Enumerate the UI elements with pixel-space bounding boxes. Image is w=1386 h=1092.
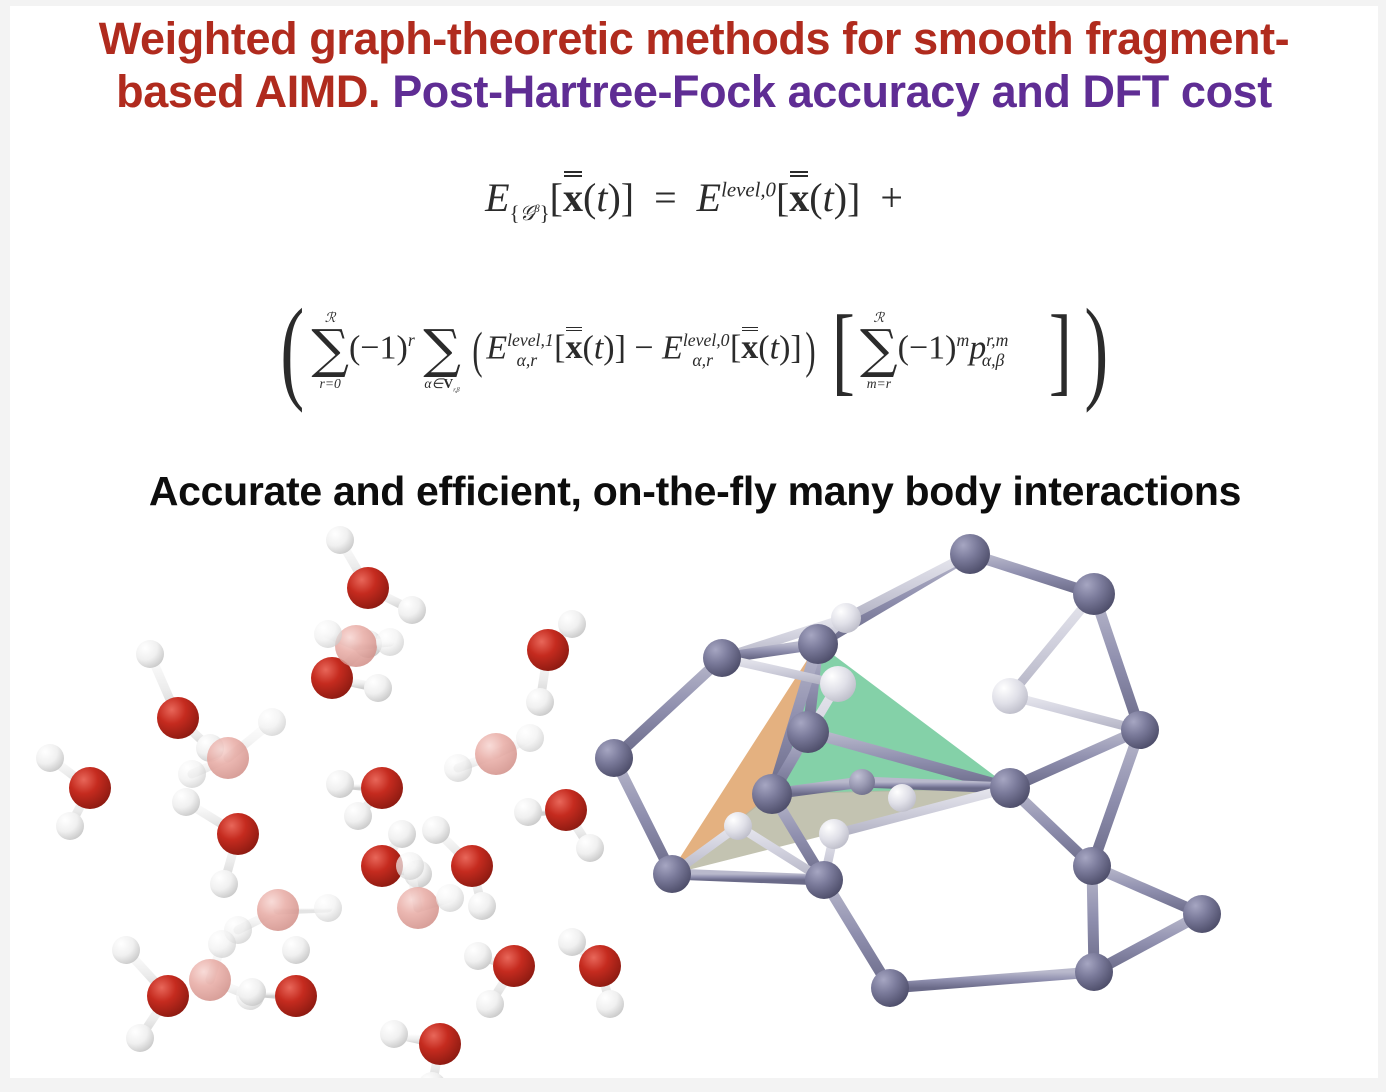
hydrogen-atom (314, 894, 342, 922)
hydrogen-atom (36, 744, 64, 772)
graph-edge (614, 758, 672, 874)
outer-left-paren: ( (280, 284, 304, 417)
water-molecule (558, 928, 624, 1018)
graph-edge (862, 782, 1010, 788)
figure-svg (10, 526, 1378, 1078)
graph-node (1183, 895, 1221, 933)
title-line-2: based AIMD. Post-Hartree-Fock accuracy a… (14, 65, 1374, 118)
hydrogen-atom (558, 610, 586, 638)
hydrogen-atom (558, 928, 586, 956)
graph-node (990, 768, 1030, 808)
fragment-graph-network (595, 534, 1221, 1007)
hydrogen-atom (422, 816, 450, 844)
graph-edge (1010, 696, 1140, 730)
water-molecule (36, 744, 111, 840)
tagline: Accurate and efficient, on-the-fly many … (20, 468, 1370, 515)
oxygen-atom (217, 813, 259, 855)
hydrogen-atom (210, 870, 238, 898)
bracket-left: [ (832, 294, 855, 407)
oxygen-atom (493, 945, 535, 987)
graph-node (805, 861, 843, 899)
graph-edge (672, 874, 824, 880)
sum-over-m: ℛ∑m=r (860, 311, 898, 391)
hydrogen-atom (516, 724, 544, 752)
water-molecule (326, 767, 403, 830)
oxygen-atom (545, 789, 587, 831)
graph-node (1073, 847, 1111, 885)
poster-root: Weighted graph-theoretic methods for smo… (0, 0, 1386, 1092)
oxygen-atom (361, 767, 403, 809)
graph-node (1075, 953, 1113, 991)
hydrogen-atom (376, 628, 404, 656)
title-line-1: Weighted graph-theoretic methods for smo… (14, 12, 1374, 65)
water-molecule (326, 526, 426, 624)
graph-node (950, 534, 990, 574)
equation-line-1: E{𝒢β}[x(t)] = Elevel,0[x(t)] + (10, 174, 1378, 221)
title-line-2-red: based AIMD. (116, 66, 392, 117)
graph-node (752, 774, 792, 814)
water-molecule (224, 889, 342, 944)
graph-edge (1094, 594, 1140, 730)
oxygen-atom (419, 1023, 461, 1065)
hydrogen-atom (208, 930, 236, 958)
hydrogen-atom (418, 1072, 446, 1078)
sum-over-r: ℛ∑r=0 (311, 311, 349, 391)
oxygen-atom (207, 737, 249, 779)
graph-node (820, 666, 856, 702)
hydrogen-atom (136, 640, 164, 668)
graph-edge (890, 972, 1094, 988)
hydrogen-atom (596, 990, 624, 1018)
hydrogen-atom (398, 596, 426, 624)
oxygen-atom (347, 567, 389, 609)
graph-node (849, 769, 875, 795)
hydrogen-atom (172, 788, 200, 816)
outer-right-paren: ) (1084, 284, 1108, 417)
hydrogen-atom (56, 812, 84, 840)
hydrogen-atom (464, 942, 492, 970)
graph-node (595, 739, 633, 777)
hydrogen-atom (476, 990, 504, 1018)
graph-edge (614, 658, 722, 758)
graph-node (1073, 573, 1115, 615)
hydrogen-atom (238, 978, 266, 1006)
oxygen-atom (527, 629, 569, 671)
hydrogen-atom (326, 526, 354, 554)
graph-node (653, 855, 691, 893)
water-molecule (444, 724, 544, 782)
graph-node (798, 624, 838, 664)
hydrogen-atom (380, 1020, 408, 1048)
hydrogen-atom (444, 754, 472, 782)
water-molecule (172, 788, 259, 898)
hydrogen-atom (326, 770, 354, 798)
equation-line-2: (ℛ∑r=0(−1)r ∑α∈Vr,β (Elevel,1α,r[x(t)] −… (10, 284, 1378, 417)
oxygen-atom (397, 887, 439, 929)
title-line-2-purple: Post-Hartree-Fock accuracy and DFT cost (392, 66, 1272, 117)
graph-node (1121, 711, 1159, 749)
water-molecule (361, 820, 432, 888)
water-molecule (136, 640, 224, 762)
graph-node (703, 639, 741, 677)
hydrogen-atom (344, 802, 372, 830)
water-molecule (464, 942, 535, 1018)
graph-edge (846, 554, 970, 618)
figure-area (10, 526, 1378, 1078)
hydrogen-atom (576, 834, 604, 862)
title-line-1-red: Weighted graph-theoretic methods for smo… (99, 13, 1290, 64)
hydrogen-atom (468, 892, 496, 920)
poster-canvas: Weighted graph-theoretic methods for smo… (10, 6, 1378, 1078)
hydrogen-atom (514, 798, 542, 826)
water-molecule (112, 936, 189, 1052)
graph-node (992, 678, 1028, 714)
oxygen-atom (579, 945, 621, 987)
hydrogen-atom (364, 674, 392, 702)
hydrogen-atom (178, 760, 206, 788)
graph-node (831, 603, 861, 633)
hydrogen-atom (388, 820, 416, 848)
hydrogen-atom (258, 708, 286, 736)
oxygen-atom (257, 889, 299, 931)
graph-node (888, 784, 916, 812)
water-molecule (514, 789, 604, 862)
oxygen-atom (157, 697, 199, 739)
hydrogen-atom (112, 936, 140, 964)
water-molecule (526, 610, 586, 716)
hydrogen-atom (314, 620, 342, 648)
sum-over-alpha: ∑α∈Vr,β (423, 310, 461, 390)
hydrogen-atom (126, 1024, 154, 1052)
oxygen-atom (189, 959, 231, 1001)
graph-node (871, 969, 909, 1007)
bracket-right: ] (1049, 294, 1072, 407)
water-cluster-ball-and-stick (36, 526, 624, 1078)
energy-equation: E{𝒢β}[x(t)] = Elevel,0[x(t)] + (ℛ∑r=0(−1… (10, 174, 1378, 454)
hydrogen-atom (526, 688, 554, 716)
oxygen-atom (475, 733, 517, 775)
oxygen-atom (451, 845, 493, 887)
graph-node (819, 819, 849, 849)
page-title: Weighted graph-theoretic methods for smo… (14, 12, 1374, 118)
graph-node (787, 711, 829, 753)
water-molecule (380, 1020, 461, 1078)
hydrogen-atom (396, 852, 424, 880)
oxygen-atom (69, 767, 111, 809)
graph-node (724, 812, 752, 840)
hydrogen-atom (436, 884, 464, 912)
oxygen-atom (275, 975, 317, 1017)
hydrogen-atom (282, 936, 310, 964)
oxygen-atom (147, 975, 189, 1017)
water-molecule (238, 936, 317, 1017)
